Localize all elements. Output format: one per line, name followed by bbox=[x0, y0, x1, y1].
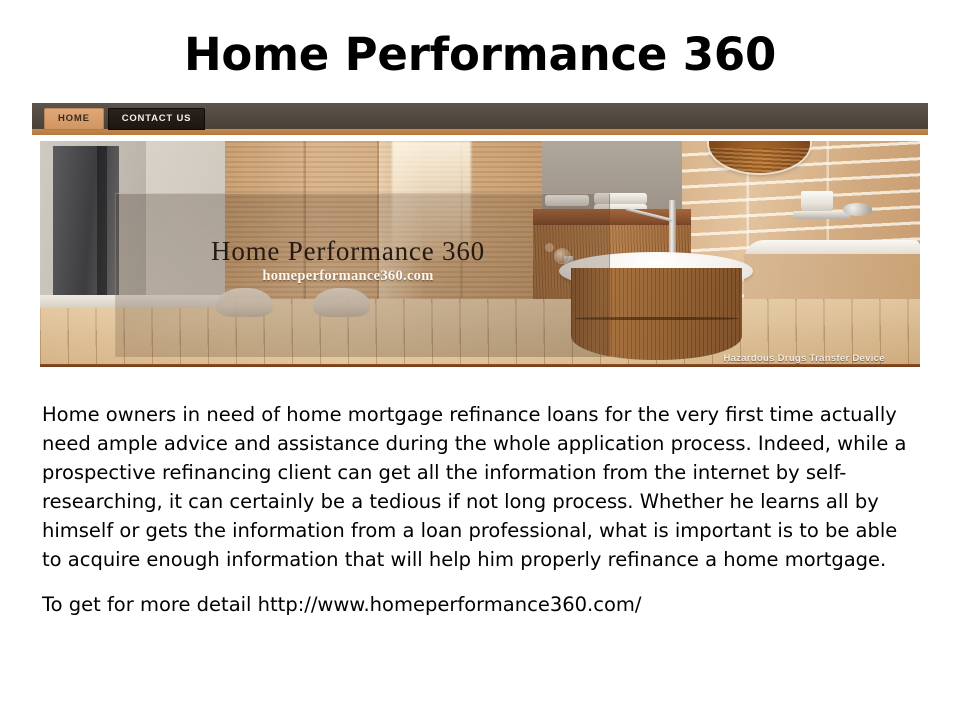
shower-recess bbox=[53, 146, 119, 304]
body-paragraph-1: Home owners in need of home mortgage ref… bbox=[42, 400, 922, 574]
glass-shower-panel bbox=[115, 193, 610, 357]
site-nav-tabs: HOME CONTACT US bbox=[44, 108, 205, 130]
site-navbar: HOME CONTACT US bbox=[32, 103, 928, 135]
faucet-stem bbox=[669, 200, 676, 254]
cup-bracket bbox=[793, 211, 850, 219]
body-text-block: Home owners in need of home mortgage ref… bbox=[42, 400, 922, 619]
nav-tab-home[interactable]: HOME bbox=[44, 108, 104, 130]
glass-panel-fitting bbox=[545, 243, 554, 252]
floor-front-edge bbox=[40, 364, 920, 367]
page-title: Home Performance 360 bbox=[0, 30, 960, 80]
hero-banner-image: Home Performance 360 homeperformance360.… bbox=[40, 141, 920, 367]
website-screenshot: HOME CONTACT US bbox=[32, 103, 928, 375]
site-page-body: Home Performance 360 homeperformance360.… bbox=[32, 135, 928, 375]
nav-tab-contact-us[interactable]: CONTACT US bbox=[108, 108, 206, 130]
glass-panel-handle bbox=[555, 249, 569, 263]
toothbrush-cup bbox=[801, 191, 833, 212]
wall-knob bbox=[843, 203, 873, 215]
body-paragraph-2: To get for more detail http://www.homepe… bbox=[42, 590, 922, 619]
hero-caption-watermark: Hazardous Drugs Transfer Device bbox=[723, 353, 884, 364]
round-mirror bbox=[709, 141, 810, 173]
